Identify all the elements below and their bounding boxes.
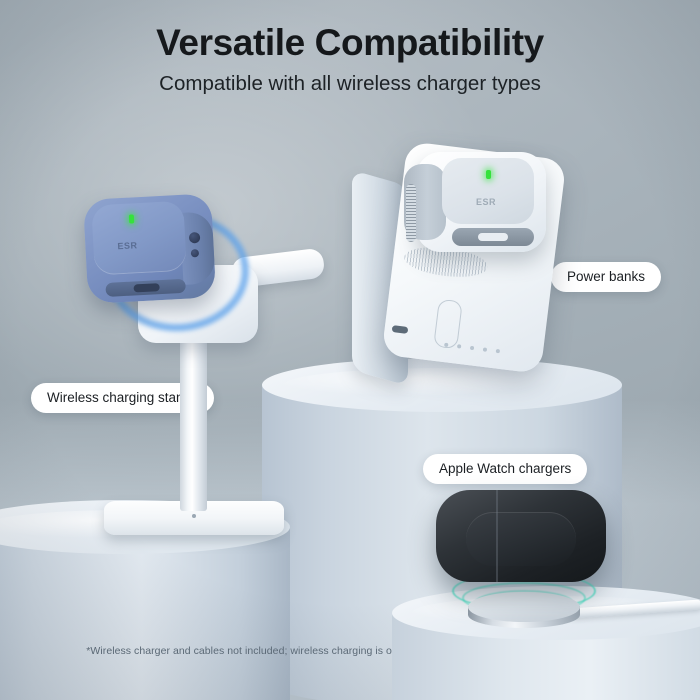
airpods-case-blue-lid (91, 201, 187, 276)
callout-apple-watch-chargers[interactable]: Apple Watch chargers (423, 454, 587, 484)
airpods-case-black (436, 490, 606, 590)
airpods-case-white: ESR (398, 152, 548, 270)
product-marketing-image: Versatile Compatibility Compatible with … (0, 0, 700, 700)
page-subtitle: Compatible with all wireless charger typ… (0, 72, 700, 96)
airpods-case-white-grille (406, 184, 416, 242)
airpods-case-blue: ESR (83, 192, 239, 320)
stand-column (180, 315, 207, 511)
airpods-case-white-hinge (404, 164, 446, 240)
puck-top-surface (468, 592, 580, 622)
esr-logo: ESR (476, 197, 496, 207)
status-led-icon (486, 170, 491, 179)
airpods-case-white-lid (442, 158, 534, 224)
status-led-icon (129, 214, 134, 223)
page-title: Versatile Compatibility (0, 22, 700, 64)
airpods-case-black-seam (496, 490, 498, 582)
apple-watch-charging-puck (468, 592, 580, 638)
airpods-case-white-port (452, 228, 534, 246)
airpods-case-black-lid (466, 512, 576, 566)
esr-logo: ESR (117, 240, 138, 251)
